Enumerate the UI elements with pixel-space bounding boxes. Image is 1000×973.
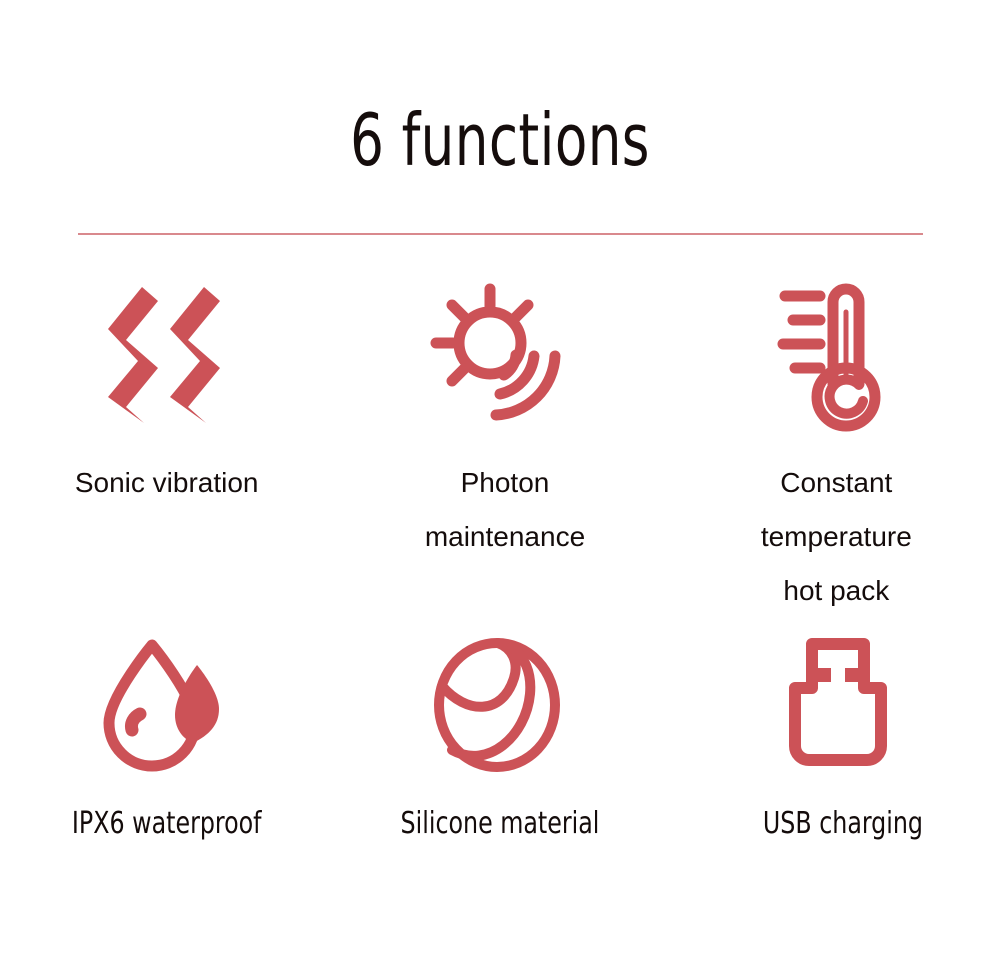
feature-highlight-page: 6 functions Sonic vibration [0,0,1000,973]
feature-label-photon-maintenance: Photon maintenance [425,456,585,564]
feature-item-photon-maintenance: Photon maintenance [333,280,666,630]
feature-label-usb-charging: USB charging [763,806,923,842]
thermometer-icon [757,280,917,440]
feature-item-usb-charging: USB charging [667,630,1000,870]
feature-label-ipx6-waterproof: IPX6 waterproof [72,806,262,842]
usb-connector-icon [763,630,923,780]
feature-label-silicone-material: Silicone material [401,806,600,842]
silicone-ball-icon [418,630,578,780]
feature-item-silicone-material: Silicone material [333,630,666,870]
water-drop-icon [85,630,245,780]
feature-item-sonic-vibration: Sonic vibration [0,280,333,630]
feature-label-sonic-vibration: Sonic vibration [75,456,259,510]
feature-row-top: Sonic vibration [0,280,1000,630]
page-title: 6 functions [90,104,910,176]
feature-row-bottom: IPX6 waterproof [0,630,1000,870]
feature-label-constant-temperature: Constant temperature hot pack [761,456,912,618]
title-divider [78,233,923,235]
feature-item-ipx6-waterproof: IPX6 waterproof [0,630,333,870]
feature-item-constant-temperature: Constant temperature hot pack [667,280,1000,630]
photon-sun-icon [428,280,588,440]
feature-grid: Sonic vibration [0,280,1000,870]
sonic-vibration-icon [85,280,245,440]
